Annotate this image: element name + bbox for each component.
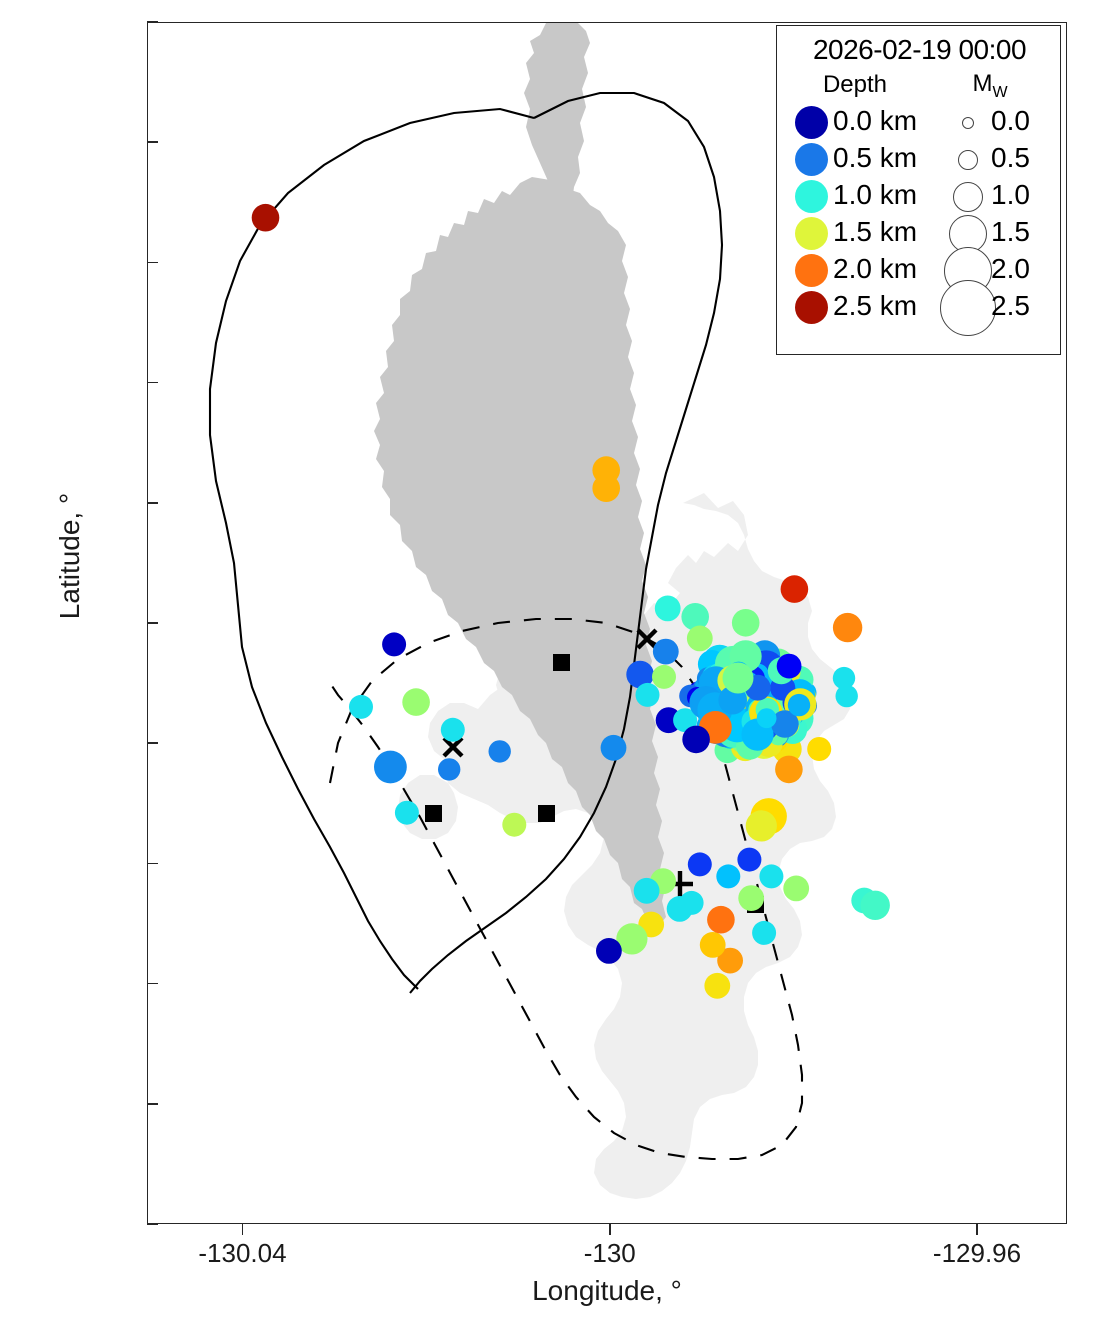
legend-depth-label: 1.5 km	[833, 216, 917, 248]
station-square	[538, 805, 555, 822]
legend-magnitude-label: 2.0	[991, 253, 1030, 285]
legend-row: 1.0 km1.0	[777, 178, 1062, 215]
earthquake-event	[732, 609, 760, 637]
y-tick-mark	[147, 262, 158, 264]
earthquake-event	[349, 695, 373, 719]
legend-depth-label: 1.0 km	[833, 179, 917, 211]
earthquake-event	[716, 864, 740, 888]
earthquake-event	[636, 683, 660, 707]
earthquake-event	[402, 688, 430, 716]
y-tick-mark	[147, 141, 158, 143]
earthquake-event	[382, 632, 406, 656]
legend-depth-swatch	[795, 217, 828, 250]
legend-row: 2.0 km2.0	[777, 252, 1062, 289]
legend-magnitude-circle	[962, 117, 974, 129]
earthquake-event	[374, 751, 407, 784]
x-tick-mark	[976, 1224, 978, 1235]
legend-row: 0.5 km0.5	[777, 141, 1062, 178]
legend-magnitude-label: 1.5	[991, 216, 1030, 248]
earthquake-event	[700, 932, 726, 958]
legend-depth-header: Depth	[791, 71, 919, 99]
legend-magnitude-circle	[953, 182, 983, 212]
earthquake-event	[746, 810, 777, 841]
legend-depth-label: 2.5 km	[833, 290, 917, 322]
legend-depth-swatch	[795, 291, 828, 324]
earthquake-event	[596, 938, 622, 964]
map-legend: 2026-02-19 00:00 Depth MW 0.0 km0.00.5 k…	[776, 25, 1061, 355]
x-axis-label: Longitude, °	[147, 1275, 1067, 1307]
earthquake-event	[667, 896, 693, 922]
earthquake-event	[777, 654, 802, 679]
earthquake-event	[757, 708, 777, 728]
y-tick-mark	[147, 983, 158, 985]
earthquake-event	[441, 718, 465, 742]
seismicity-map-figure: 4645.9945.9845.9745.9645.9545.9445.9345.…	[0, 0, 1111, 1324]
legend-row: 1.5 km1.5	[777, 215, 1062, 252]
y-tick-mark	[147, 1103, 158, 1105]
legend-mag-m: M	[972, 70, 992, 97]
earthquake-event	[688, 852, 712, 876]
legend-depth-swatch	[795, 180, 828, 213]
legend-depth-swatch	[795, 106, 828, 139]
legend-depth-swatch	[795, 143, 828, 176]
earthquake-event	[653, 639, 679, 665]
earthquake-event	[489, 740, 511, 762]
y-tick-mark	[147, 502, 158, 504]
earthquake-event	[395, 801, 419, 825]
earthquake-event	[836, 685, 858, 707]
legend-depth-label: 0.5 km	[833, 142, 917, 174]
earthquake-event	[738, 885, 764, 911]
earthquake-event	[759, 864, 783, 888]
legend-row: 0.0 km0.0	[777, 104, 1062, 141]
earthquake-event	[592, 474, 620, 502]
earthquake-event	[707, 906, 735, 934]
y-axis-label: Latitude, °	[54, 426, 86, 686]
earthquake-event	[775, 756, 803, 784]
legend-magnitude-label: 1.0	[991, 179, 1030, 211]
legend-mag-sub: W	[992, 84, 1007, 101]
legend-depth-label: 2.0 km	[833, 253, 917, 285]
x-tick-label: -130	[520, 1240, 700, 1266]
earthquake-event	[502, 813, 526, 837]
station-square	[553, 654, 570, 671]
y-tick-mark	[147, 382, 158, 384]
earthquake-event	[781, 575, 809, 603]
y-tick-mark	[147, 742, 158, 744]
legend-magnitude-circle	[958, 150, 978, 170]
earthquake-event	[652, 665, 676, 689]
earthquake-event	[737, 848, 761, 872]
legend-magnitude-label: 2.5	[991, 290, 1030, 322]
x-tick-mark	[242, 1224, 244, 1235]
earthquake-event	[861, 891, 890, 920]
earthquake-event	[783, 876, 809, 902]
y-tick-mark	[147, 1223, 158, 1225]
legend-magnitude-label: 0.5	[991, 142, 1030, 174]
legend-row: 2.5 km2.5	[777, 289, 1062, 326]
legend-magnitude-label: 0.0	[991, 105, 1030, 137]
earthquake-event-highlighted	[807, 737, 831, 761]
earthquake-event	[723, 663, 754, 694]
x-tick-label: -130.04	[152, 1240, 332, 1266]
earthquake-event	[704, 973, 730, 999]
earthquake-event	[601, 735, 627, 761]
x-tick-mark	[609, 1224, 611, 1235]
legend-magnitude-circle	[940, 280, 996, 336]
earthquake-event	[438, 758, 460, 780]
legend-depth-label: 0.0 km	[833, 105, 917, 137]
legend-magnitude-header: MW	[925, 70, 1055, 102]
y-tick-mark	[147, 863, 158, 865]
earthquake-event	[655, 596, 681, 622]
earthquake-event	[788, 694, 810, 716]
legend-depth-swatch	[795, 254, 828, 287]
y-tick-mark	[147, 21, 158, 23]
earthquake-event	[634, 878, 660, 904]
y-tick-mark	[147, 622, 158, 624]
earthquake-event	[833, 613, 862, 642]
earthquake-event	[687, 626, 713, 652]
station-square	[425, 805, 442, 822]
earthquake-event	[752, 921, 776, 945]
earthquake-event	[252, 204, 280, 232]
legend-timestamp: 2026-02-19 00:00	[777, 34, 1062, 66]
earthquake-event	[682, 726, 710, 754]
x-tick-label: -129.96	[887, 1240, 1067, 1266]
